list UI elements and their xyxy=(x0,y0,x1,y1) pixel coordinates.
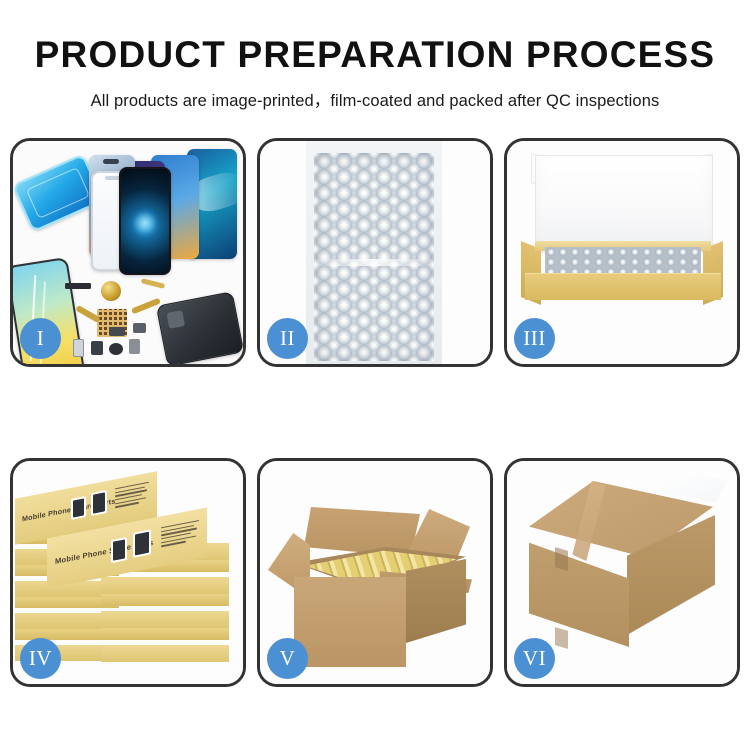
box-art-screen-3 xyxy=(111,537,127,563)
bubble-wrapped-contents xyxy=(545,247,701,275)
step-panel-6: VI xyxy=(504,458,740,687)
phone-back-housing xyxy=(156,291,243,364)
speaker-part-icon xyxy=(65,283,91,289)
bubble-wrap-icon xyxy=(314,153,434,361)
step-panel-5: V xyxy=(257,458,493,687)
step-badge-5: V xyxy=(267,638,308,679)
header: PRODUCT PREPARATION PROCESS All products… xyxy=(0,0,750,111)
small-part-1 xyxy=(91,341,103,355)
carton-side-panel xyxy=(406,559,466,643)
box-art-textlines-front xyxy=(161,520,199,550)
step-panel-1: I xyxy=(10,138,246,367)
step-badge-1: I xyxy=(20,318,61,359)
product-preparation-infographic: PRODUCT PREPARATION PROCESS All products… xyxy=(0,0,750,750)
box-art-screen-4 xyxy=(133,529,151,557)
box-art-textlines-back xyxy=(115,482,149,511)
step-panel-2: II xyxy=(257,138,493,367)
carton-tape-lower xyxy=(555,627,568,649)
small-part-4 xyxy=(73,339,84,357)
flex-cable-3 xyxy=(141,278,165,289)
carton-front-panel xyxy=(294,577,406,667)
step-panel-3: III xyxy=(504,138,740,367)
step-badge-2: II xyxy=(267,318,308,359)
step-panel-4: Mobile Phone Spare Parts Mobile Phone Sp… xyxy=(10,458,246,687)
box-tray-front xyxy=(525,273,721,300)
carton-tape-upper xyxy=(555,547,568,571)
small-part-6 xyxy=(133,323,146,333)
box-art-screen-1 xyxy=(71,496,86,520)
wrap-sheen-highlight xyxy=(314,259,434,266)
coil-part-icon xyxy=(101,281,121,301)
small-part-3 xyxy=(129,339,140,354)
phone-display-5 xyxy=(119,167,171,275)
page-subtitle: All products are image-printed，film-coat… xyxy=(0,87,750,111)
small-part-2 xyxy=(109,343,123,355)
step-badge-6: VI xyxy=(514,638,555,679)
steps-grid: I II III xyxy=(10,138,740,687)
box-art-screen-2 xyxy=(91,490,107,516)
step-badge-4: IV xyxy=(20,638,61,679)
page-title: PRODUCT PREPARATION PROCESS xyxy=(0,36,750,75)
small-part-5 xyxy=(109,327,125,336)
step-badge-3: III xyxy=(514,318,555,359)
